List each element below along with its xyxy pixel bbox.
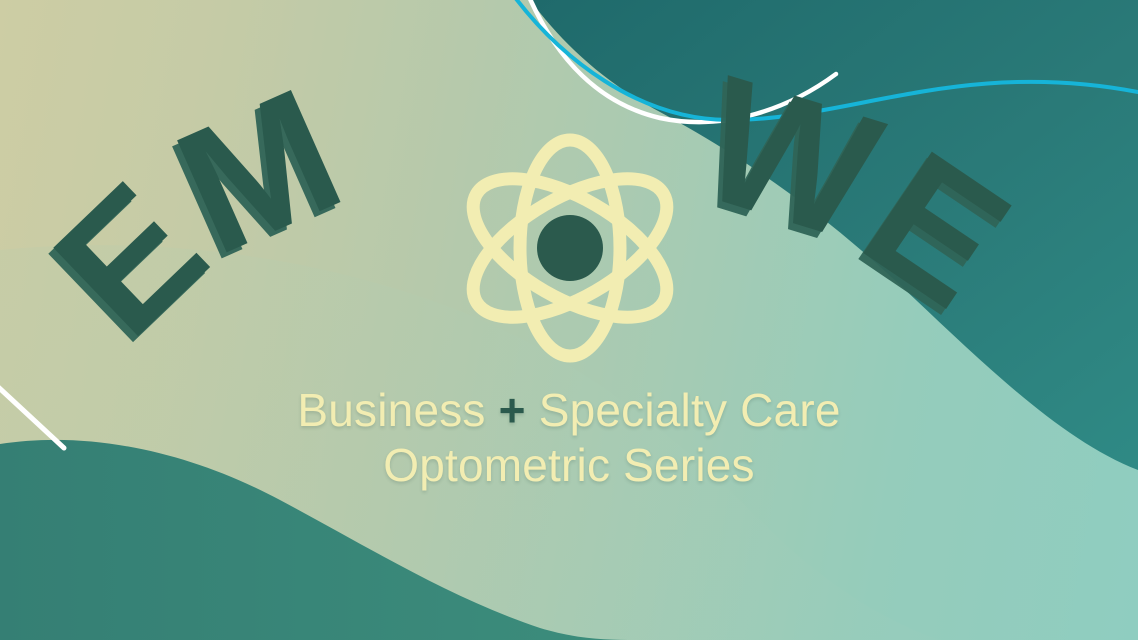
subtitle-specialty-care: Specialty Care bbox=[539, 384, 841, 436]
nucleus-disc bbox=[537, 215, 603, 281]
empower-logo-svg: EMP WER bbox=[0, 0, 1138, 640]
subtitle-line-1: Business + Specialty Care bbox=[0, 383, 1138, 437]
atom-nucleus-eye bbox=[537, 215, 617, 281]
atom-eye-icon bbox=[451, 140, 688, 356]
svg-text:EMP: EMP bbox=[0, 0, 369, 372]
empower-logo: EMP WER bbox=[0, 0, 1138, 640]
subtitle-plus: + bbox=[499, 384, 526, 436]
wordmark-left-text: EMP bbox=[0, 0, 369, 372]
wordmark-left: EMP bbox=[0, 0, 369, 372]
subtitle-business: Business bbox=[297, 384, 485, 436]
title-slide: EMP WER bbox=[0, 0, 1138, 640]
subtitle-line-2: Optometric Series bbox=[0, 438, 1138, 492]
